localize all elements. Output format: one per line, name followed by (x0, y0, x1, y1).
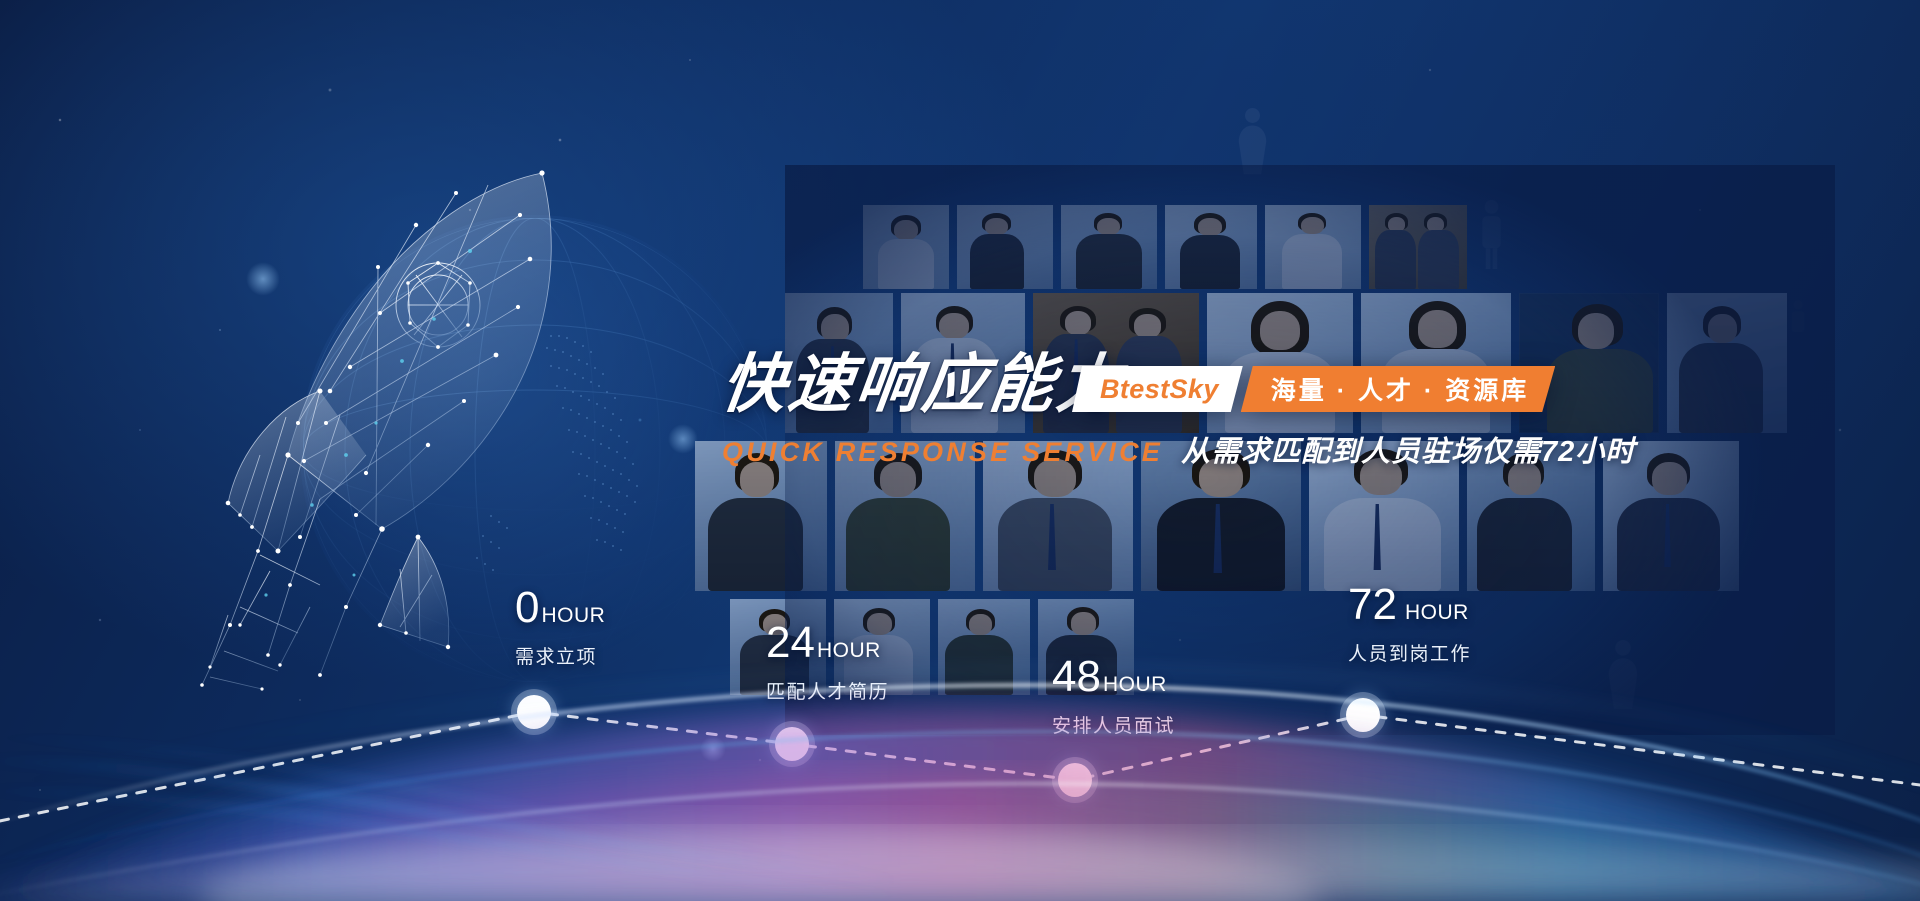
hero-banner: 快速响应能力 QUICK RESPONSE SERVICE 从需求匹配到人员驻场… (0, 0, 1920, 901)
blue-streak-decor (0, 641, 900, 901)
